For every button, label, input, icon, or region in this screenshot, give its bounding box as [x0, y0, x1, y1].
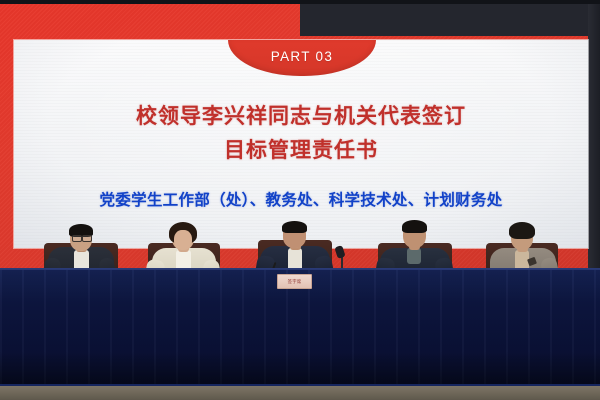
slide-title: 校领导李兴祥同志与机关代表签订 目标管理责任书	[14, 100, 588, 168]
person-1-glasses-left	[72, 235, 82, 242]
person-4-hair	[402, 220, 427, 233]
tablecloth-shadow	[0, 352, 600, 386]
name-placard-text: 签字席	[288, 279, 302, 285]
floor	[0, 386, 600, 400]
person-3-hair	[282, 221, 307, 233]
person-4-shirt	[407, 248, 421, 264]
screenshot-root: PART 03 校领导李兴祥同志与机关代表签订 目标管理责任书 党委学生工作部（…	[0, 0, 600, 400]
slide-subtitle: 党委学生工作部（处）、教务处、科学技术处、计划财务处	[14, 188, 588, 210]
name-placard: 签字席	[277, 274, 312, 289]
wall-dark-right	[300, 4, 600, 40]
part-number-label: PART 03	[271, 49, 333, 64]
slide-title-line-1: 校领导李兴祥同志与机关代表签订	[14, 100, 588, 134]
person-2-face	[174, 230, 192, 250]
slide-title-line-2: 目标管理责任书	[14, 134, 588, 168]
person-1-glasses-right	[82, 235, 92, 242]
person-5-hair	[509, 222, 535, 239]
screen-frame-right	[588, 4, 600, 304]
